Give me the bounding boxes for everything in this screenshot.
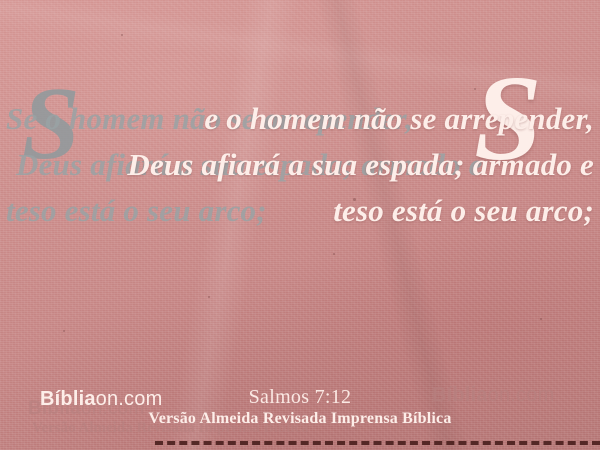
verse-text: e o homem não se arrepender, Deus afiará… xyxy=(0,96,600,234)
verse-reference: Salmos 7:12 xyxy=(0,386,600,409)
dashed-divider xyxy=(155,441,600,445)
version-label: Versão Almeida Revisada Imprensa Bíblica xyxy=(0,410,600,428)
verse-image: S Se o homem não se arrepender, Deus afi… xyxy=(0,0,600,450)
footer: Bíbliaon.com Bíbliaon.com Versão Almeida… xyxy=(0,372,600,450)
verse-line-3: teso está o seu arco; xyxy=(0,188,594,234)
verse-line-1: e o homem não se arrepender, xyxy=(0,96,594,142)
verse-line-2: Deus afiará a sua espada; armado e xyxy=(0,142,594,188)
